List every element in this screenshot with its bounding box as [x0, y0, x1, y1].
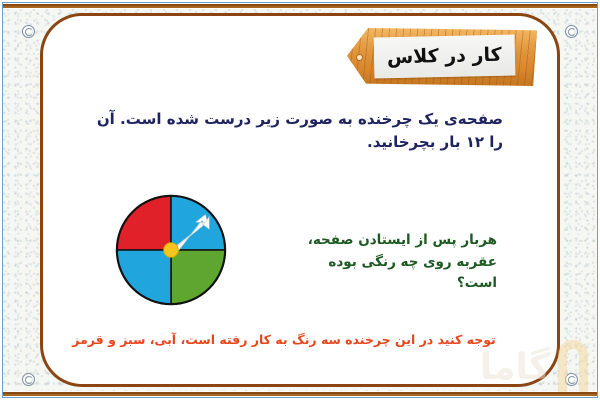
screw-icon [22, 373, 35, 386]
sign-plate: کار در کلاس [373, 35, 514, 79]
bottom-border-band [3, 391, 597, 397]
screw-icon [565, 373, 578, 386]
screw-icon [565, 25, 578, 38]
top-border-band [3, 3, 597, 9]
spinner-hub [164, 243, 179, 258]
problem-statement: صفحه‌ی یک چرخنده به صورت زیر درست شده اس… [83, 108, 503, 155]
content-frame: کار در کلاس صفحه‌ی یک چرخنده به صورت زیر… [40, 13, 560, 387]
classwork-sign: کار در کلاس [347, 28, 537, 86]
question-text: هربار پس از ایستادن صفحه، عقربه روی چه ر… [287, 230, 497, 295]
spinner-figure [113, 192, 229, 308]
note-text: توجه کنید در این چرخنده سه رنگ به کار رف… [69, 331, 499, 350]
slide: کار در کلاس صفحه‌ی یک چرخنده به صورت زیر… [0, 0, 600, 400]
nail-icon [357, 55, 362, 60]
screw-icon [22, 25, 35, 38]
sign-label: کار در کلاس [386, 44, 501, 68]
